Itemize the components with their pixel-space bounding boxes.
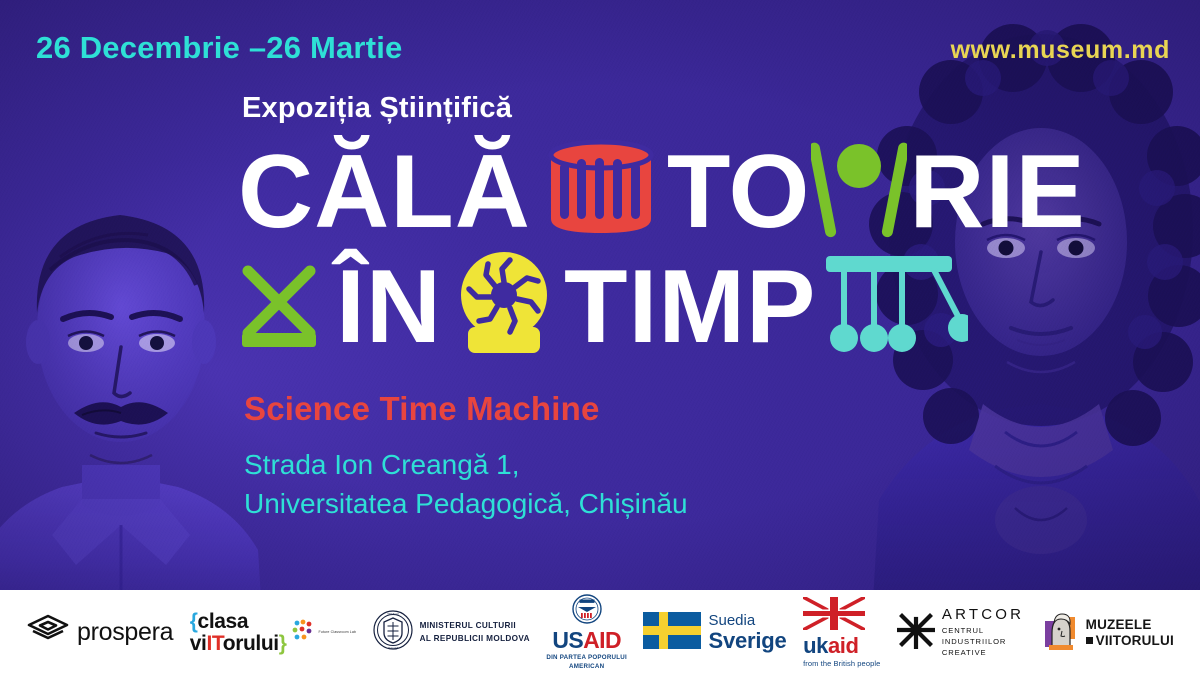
clasa-line1: clasa (198, 610, 249, 633)
muzeele-line-1: MUZEELE (1086, 617, 1174, 633)
clasa-wordmark: {clasa viITorului} (190, 611, 287, 654)
logo-usaid[interactable]: USAID DIN PARTEA POPORULUI AMERICAN (546, 594, 627, 671)
clasa-it: IT (206, 632, 222, 655)
title-part-to: TO (667, 137, 810, 247)
website-url[interactable]: www.museum.md (951, 36, 1170, 65)
usaid-aid: AID (583, 627, 621, 653)
logo-artcor[interactable]: ARTCOR CENTRUL INDUSTRIILOR CREATIVE (897, 607, 1024, 659)
clasa-vi: vi (190, 632, 207, 655)
ministry-line-1: MINISTERUL CULTURII (420, 620, 530, 632)
logo-ukaid[interactable]: ukaid from the British people (803, 597, 880, 668)
moldova-state-seal-icon: REPUBLICA MOLDOVA (373, 610, 413, 655)
title-part-timp: TIMP (564, 252, 816, 362)
artcor-name: ARTCOR (942, 607, 1024, 624)
date-range: 26 Decembrie –26 Martie (36, 30, 402, 66)
prospera-wordmark: prospera (77, 618, 173, 647)
subtitle-english: Science Time Machine (244, 390, 1136, 428)
sponsor-logo-bar: prospera {clasa viITorului} (0, 590, 1200, 675)
statue-bust-icon (1041, 609, 1079, 656)
artcor-wordmark: ARTCOR CENTRUL INDUSTRIILOR CREATIVE (942, 607, 1024, 659)
artcor-tagline-2: INDUSTRIILOR (942, 636, 1024, 647)
address-line-1: Strada Ion Creangă 1, (244, 446, 1136, 484)
usaid-tagline-1: DIN PARTEA POPORULUI (546, 654, 627, 663)
sweden-wordmark: Suedia Sverige (708, 613, 786, 652)
usaid-us: US (552, 627, 583, 653)
clasa-orului: orului (223, 632, 279, 655)
ukaid-uk: uk (803, 633, 828, 658)
sweden-flag-icon (643, 612, 701, 654)
ministry-wordmark: MINISTERUL CULTURII AL REPUBLICII MOLDOV… (420, 620, 530, 645)
newtons-cradle-icon (822, 254, 968, 357)
future-classroom-lab-dots-icon (291, 618, 315, 647)
future-classroom-lab-label: Future Classroom Lab (319, 630, 357, 634)
title-part-in: ÎN (336, 252, 442, 362)
address-line-2: Universitatea Pedagogică, Chișinău (244, 485, 1136, 523)
muzeele-line-2: VIITORULUI (1086, 633, 1174, 649)
muzeele-line-1-text: MUZEELE (1086, 617, 1152, 633)
sweden-sv-name: Sverige (708, 629, 786, 652)
artcor-tagline-1: CENTRUL (942, 625, 1024, 636)
ukaid-wordmark: ukaid (803, 635, 880, 657)
logo-sweden[interactable]: Suedia Sverige (643, 612, 786, 654)
title-line-1: CĂLĂ TO (238, 137, 1136, 247)
windmill-icon (236, 257, 322, 354)
ukaid-tagline: from the British people (803, 659, 880, 668)
muzeele-wordmark: MUZEELE VIITORULUI (1086, 617, 1174, 649)
logo-clasa-viitorului[interactable]: {clasa viITorului} Future Clas (190, 611, 356, 654)
brace-close: } (279, 632, 287, 655)
title-line-2: ÎN TIMP (236, 249, 1136, 364)
muzeele-line-2-text: VIITORULUI (1096, 633, 1174, 649)
artcor-tagline-3: CREATIVE (942, 647, 1024, 658)
logo-muzeele-viitorului[interactable]: MUZEELE VIITORULUI (1041, 609, 1174, 656)
muzeele-square-icon (1086, 637, 1093, 644)
eyebrow-label: Expoziția Științifică (242, 92, 1136, 125)
artcor-tagline: CENTRUL INDUSTRIILOR CREATIVE (942, 625, 1024, 658)
ukaid-aid: aid (828, 633, 859, 658)
logo-ministerul-culturii[interactable]: REPUBLICA MOLDOVA MINISTERUL CULTURII AL… (373, 610, 530, 655)
venue-address: Strada Ion Creangă 1, Universitatea Peda… (244, 446, 1136, 523)
usaid-tagline-2: AMERICAN (546, 663, 627, 672)
usaid-wordmark: USAID (546, 629, 627, 652)
person-raising-arms-icon (811, 138, 907, 243)
brace-open: { (190, 610, 198, 633)
title-part-cala: CĂLĂ (238, 137, 531, 247)
plasma-ball-icon (452, 249, 556, 360)
main-content: Expoziția Științifică CĂLĂ (236, 92, 1136, 523)
artcor-star-icon (897, 611, 935, 654)
prospera-mark-icon (26, 613, 70, 652)
union-jack-icon (803, 597, 880, 635)
svg-text:MOLDOVA: MOLDOVA (388, 647, 399, 650)
ministry-line-2: AL REPUBLICII MOLDOVA (420, 633, 530, 645)
usaid-tagline: DIN PARTEA POPORULUI AMERICAN (546, 654, 627, 671)
logo-prospera[interactable]: prospera (26, 613, 173, 652)
poster-canvas: 26 Decembrie –26 Martie www.museum.md Ex… (0, 0, 1200, 675)
sweden-ro-name: Suedia (708, 613, 786, 629)
title-part-rie: RIE (909, 137, 1085, 247)
zoetrope-icon (545, 139, 657, 240)
usaid-seal-icon (546, 594, 627, 629)
svg-text:REPUBLICA: REPUBLICA (387, 613, 399, 616)
